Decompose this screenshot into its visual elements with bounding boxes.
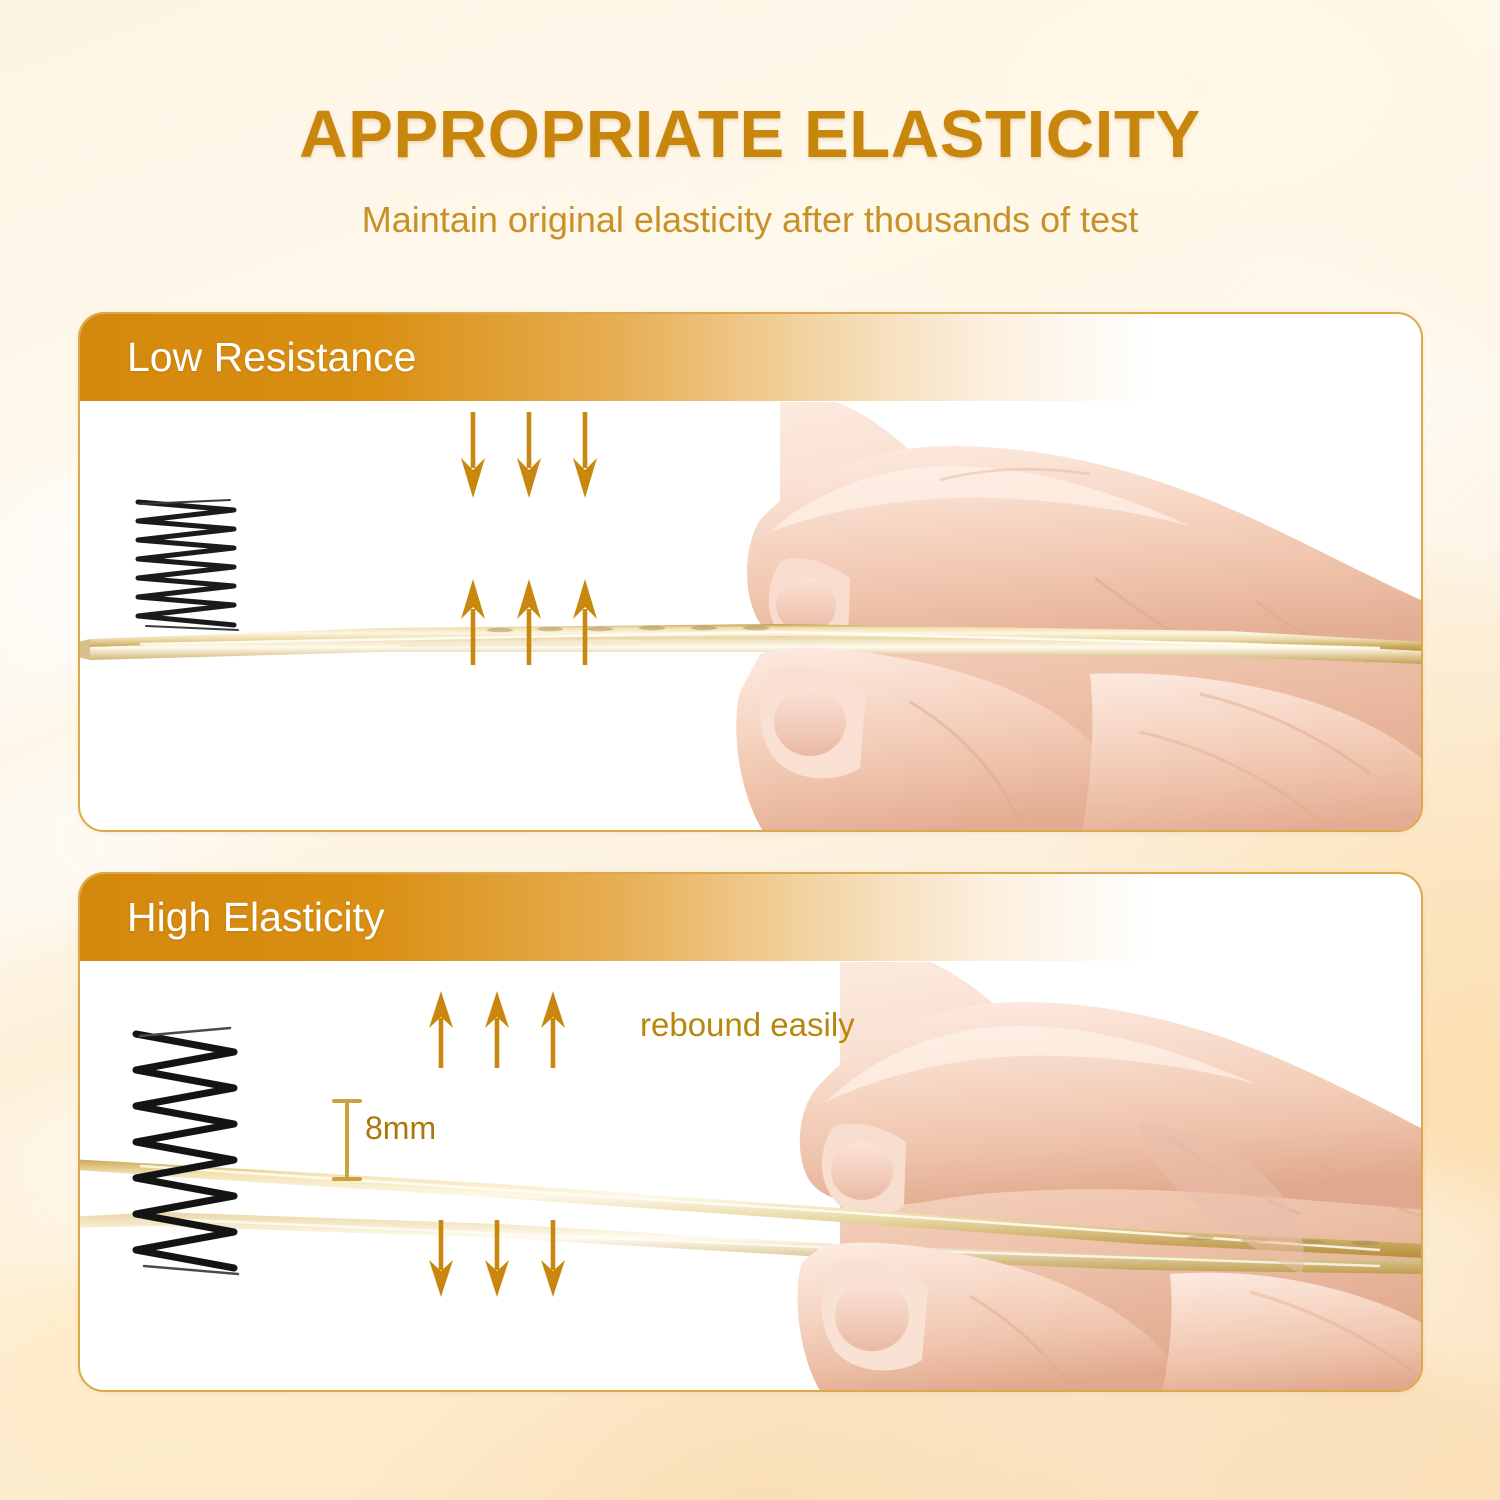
dimension-i-beam-icon	[330, 1098, 364, 1187]
thumbnail	[774, 688, 846, 756]
panel-label: Low Resistance	[127, 334, 416, 381]
arrow-down-icon	[540, 1220, 566, 1298]
arrow-group-down	[460, 412, 598, 500]
arrow-up-icon	[540, 990, 566, 1068]
arrow-down-icon	[572, 412, 598, 500]
panel-body-low-resistance	[80, 402, 1421, 830]
arrow-up-icon	[428, 990, 454, 1068]
panel-label: High Elasticity	[127, 894, 384, 941]
page-title: APPROPRIATE ELASTICITY	[0, 96, 1500, 173]
page-subtitle: Maintain original elasticity after thous…	[0, 199, 1500, 241]
arrow-up-icon	[484, 990, 510, 1068]
photo-hand-closed-tweezers	[80, 402, 1421, 830]
gap-dimension-label: 8mm	[365, 1110, 436, 1147]
arrow-down-icon	[428, 1220, 454, 1298]
arrow-group-up	[460, 577, 598, 665]
panel-low-resistance: Low Resistance	[78, 312, 1423, 832]
panel-high-elasticity: High Elasticity	[78, 872, 1423, 1392]
arrow-down-icon	[484, 1220, 510, 1298]
arrow-down-icon	[516, 412, 542, 500]
header-block: APPROPRIATE ELASTICITY Maintain original…	[0, 96, 1500, 241]
arrow-up-icon	[460, 577, 486, 665]
infographic-page: APPROPRIATE ELASTICITY Maintain original…	[0, 0, 1500, 1500]
panel-body-high-elasticity: 8mm rebound easily	[80, 962, 1421, 1390]
rebound-note-label: rebound easily	[640, 1006, 855, 1044]
panel-banner-low-resistance: Low Resistance	[79, 313, 1199, 401]
coil-spring-compressed-icon	[130, 494, 250, 634]
arrow-up-icon	[572, 577, 598, 665]
arrow-down-icon	[460, 412, 486, 500]
thumbnail	[835, 1281, 909, 1351]
arrow-up-icon	[516, 577, 542, 665]
fingernail	[831, 1142, 893, 1200]
panel-banner-high-elasticity: High Elasticity	[79, 873, 1199, 961]
coil-spring-extended-icon	[122, 1022, 262, 1282]
tweezer-tip	[80, 639, 90, 660]
arrow-group-down	[428, 1220, 566, 1298]
arrow-group-up	[428, 990, 566, 1068]
